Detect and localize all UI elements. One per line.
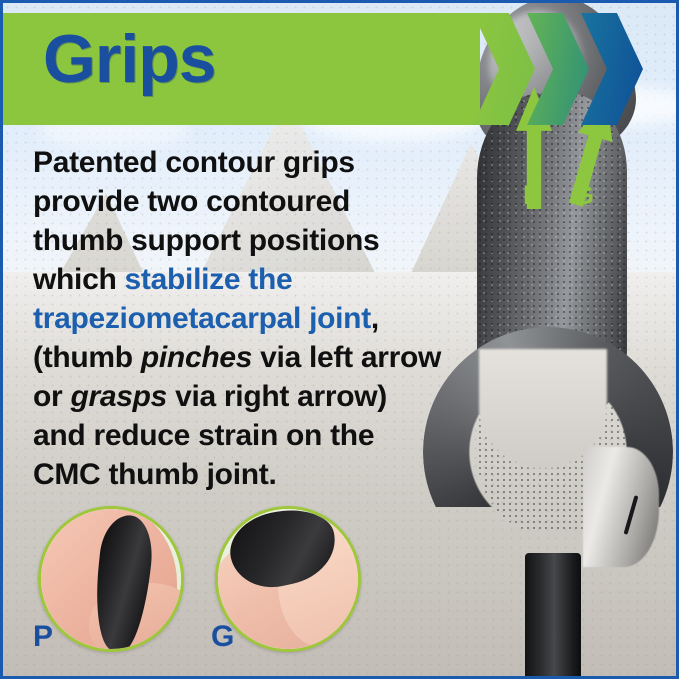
page-title: Grips [43, 25, 216, 93]
copy-line-4-highlight: stabilize the [125, 263, 293, 296]
copy-line-6-a: (thumb [33, 341, 141, 374]
copy-line-6-b: via left arrow [252, 341, 441, 374]
copy-line-3: thumb support positions [33, 224, 379, 257]
copy-line-4-plain: which [33, 263, 125, 296]
copy-line-7-a: or [33, 380, 70, 413]
copy-line-8: and reduce strain on the [33, 419, 374, 452]
inset-photo-pinch [38, 506, 184, 652]
description-paragraph: Patented contour grips provide two conto… [33, 143, 463, 494]
copy-line-6-italic: pinches [141, 341, 252, 374]
copy-line-2: provide two contoured [33, 185, 350, 218]
copy-line-9: CMC thumb joint. [33, 458, 276, 491]
grasp-arrow-label: G [573, 182, 594, 209]
copy-line-1: Patented contour grips [33, 146, 355, 179]
cane-shaft [525, 553, 581, 679]
inset-label-grasp: G [211, 622, 234, 652]
pinch-arrow-label: P [523, 182, 541, 209]
copy-line-7-b: via right arrow) [167, 380, 387, 413]
inset-label-pinch: P [33, 622, 53, 652]
copy-line-7-italic: grasps [70, 380, 167, 413]
copy-line-5-tail: , [371, 302, 379, 335]
product-infographic-poster: P G Grips Patented contour grips provide… [0, 0, 679, 679]
inset-photo-grasp [215, 506, 361, 652]
shaft-collar [583, 447, 659, 567]
copy-line-5-highlight: trapeziometacarpal joint [33, 302, 371, 335]
